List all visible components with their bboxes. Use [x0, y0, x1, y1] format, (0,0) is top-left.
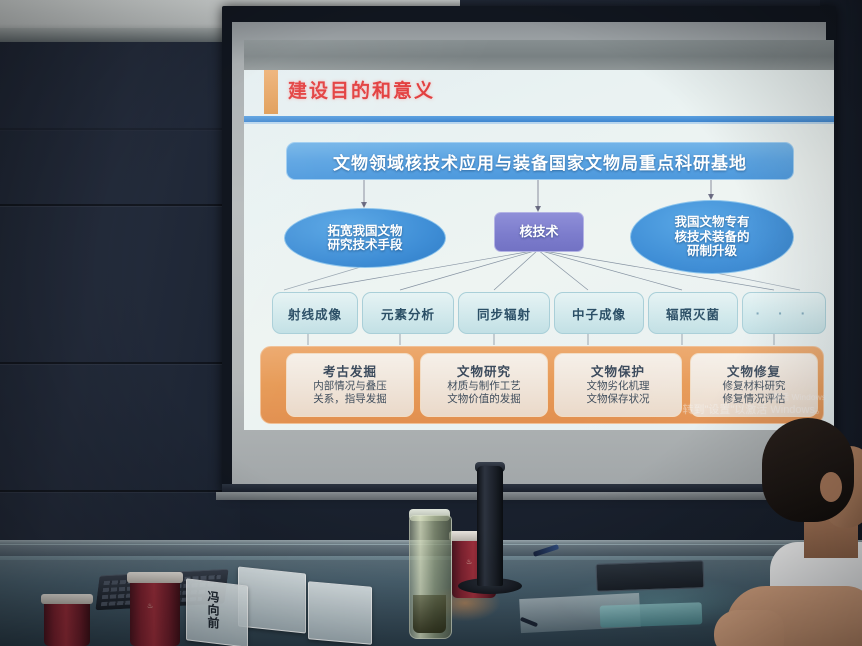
tea-leaves: [413, 595, 446, 633]
coffee-cup[interactable]: [130, 578, 180, 646]
coffee-cup-lid: [41, 594, 93, 604]
wall-seam: [0, 490, 240, 492]
attendee-head: [762, 418, 854, 522]
wall-seam: [0, 204, 240, 206]
presentation-slide: 建设目的和意义: [244, 40, 834, 430]
coffee-cup-lid: [127, 572, 183, 583]
conference-microphone[interactable]: [477, 466, 503, 586]
coffee-cup[interactable]: [44, 600, 90, 646]
name-placard: [308, 581, 372, 645]
wall-seam: [0, 362, 240, 364]
screen-glare: [244, 40, 834, 430]
attendee-ear: [820, 472, 842, 502]
placard-name-text: 冯向前: [205, 590, 222, 631]
name-placard: 冯向前: [186, 578, 248, 646]
name-placard: [238, 566, 306, 633]
cup-logo: ♨: [466, 558, 472, 566]
tablet-device[interactable]: [596, 560, 705, 592]
meeting-room-photo: 建设目的和意义: [0, 0, 862, 646]
cup-logo: ♨: [147, 602, 153, 610]
screen-surface: 建设目的和意义: [232, 22, 826, 484]
seated-attendee: [742, 410, 862, 646]
tablet-device-secondary[interactable]: [600, 602, 703, 628]
attendee-hand: [714, 610, 784, 646]
